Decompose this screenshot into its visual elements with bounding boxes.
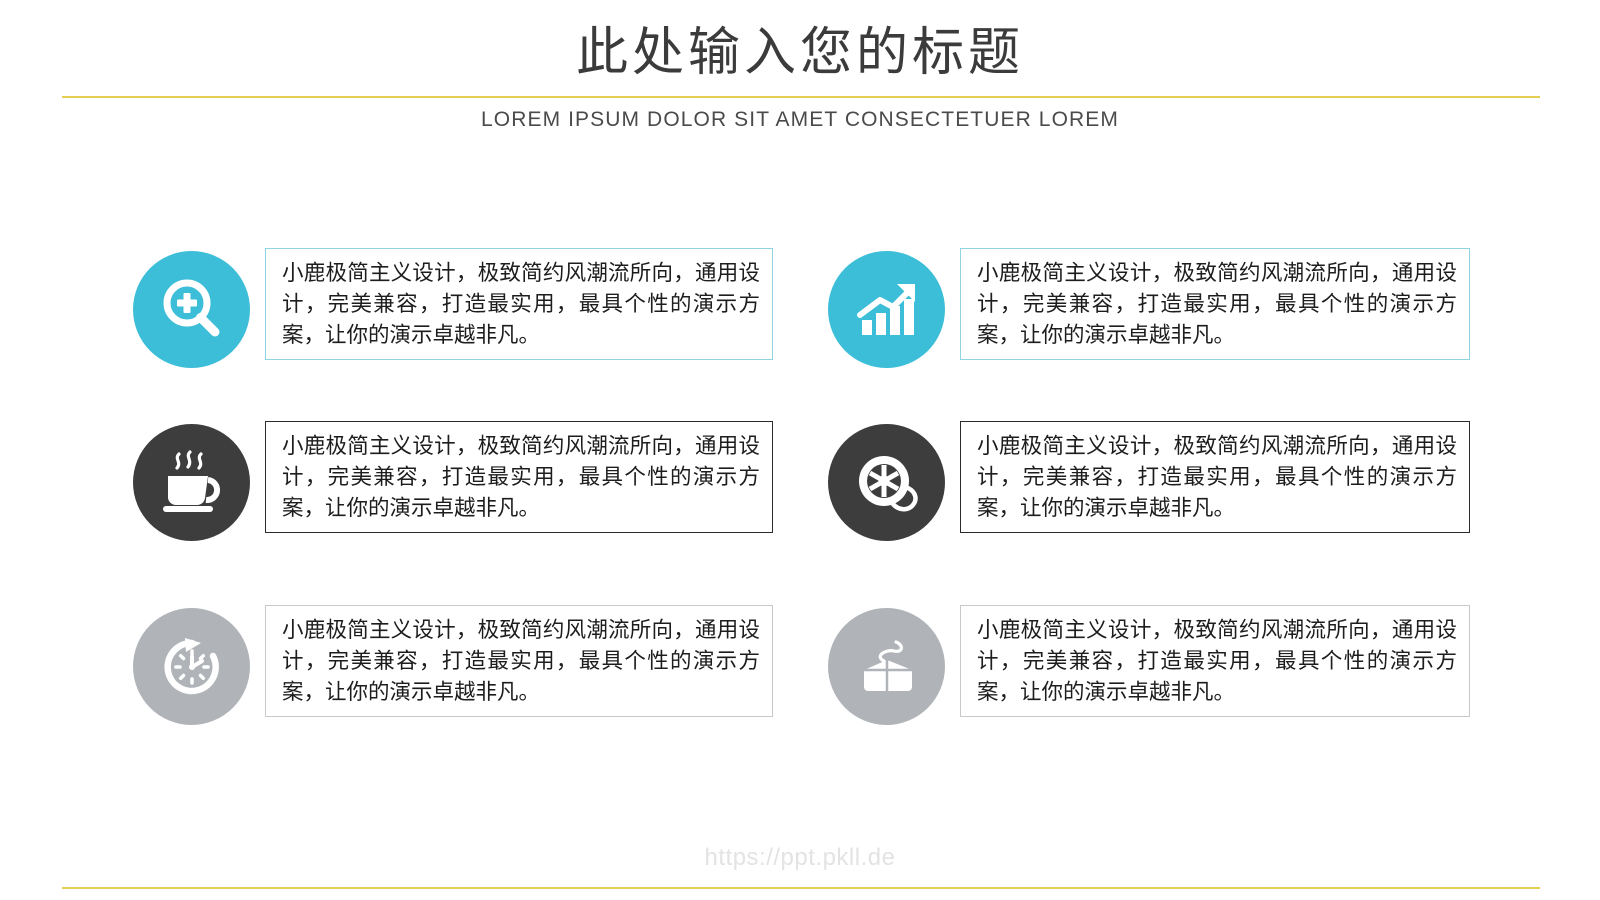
feature-text-1: 小鹿极简主义设计，极致简约风潮流所向，通用设计，完美兼容，打造最实用，最具个性的… [282,258,760,351]
feature-item-5[interactable]: 小鹿极简主义设计，极致简约风潮流所向，通用设计，完美兼容，打造最实用，最具个性的… [133,605,833,729]
footer-url[interactable]: https://ppt.pkll.de [0,844,1600,872]
feature-item-3[interactable]: 小鹿极简主义设计，极致简约风潮流所向，通用设计，完美兼容，打造最实用，最具个性的… [133,421,833,545]
feature-textbox-1[interactable]: 小鹿极简主义设计，极致简约风潮流所向，通用设计，完美兼容，打造最实用，最具个性的… [265,248,773,360]
page-title: 此处输入您的标题 [0,22,1600,84]
coffee-cup-icon [155,446,229,520]
computer-mouse-icon [850,630,924,704]
page-subtitle: LOREM IPSUM DOLOR SIT AMET CONSECTETUER … [0,106,1600,134]
title-divider-rule [62,96,1540,98]
feature-item-6[interactable]: 小鹿极简主义设计，极致简约风潮流所向，通用设计，完美兼容，打造最实用，最具个性的… [828,605,1528,729]
footer-divider-rule [62,887,1540,889]
feature-icon-circle-4[interactable] [828,424,945,541]
feature-icon-circle-2[interactable] [828,251,945,368]
feature-text-2: 小鹿极简主义设计，极致简约风潮流所向，通用设计，完美兼容，打造最实用，最具个性的… [977,258,1457,351]
feature-textbox-2[interactable]: 小鹿极简主义设计，极致简约风潮流所向，通用设计，完美兼容，打造最实用，最具个性的… [960,248,1470,360]
feature-text-6: 小鹿极简主义设计，极致简约风潮流所向，通用设计，完美兼容，打造最实用，最具个性的… [977,615,1457,708]
feature-textbox-3[interactable]: 小鹿极简主义设计，极致简约风潮流所向，通用设计，完美兼容，打造最实用，最具个性的… [265,421,773,533]
items-grid: 小鹿极简主义设计，极致简约风潮流所向，通用设计，完美兼容，打造最实用，最具个性的… [0,248,1600,748]
magnifier-plus-icon [155,273,229,347]
feature-textbox-4[interactable]: 小鹿极简主义设计，极致简约风潮流所向，通用设计，完美兼容，打造最实用，最具个性的… [960,421,1470,533]
feature-icon-circle-3[interactable] [133,424,250,541]
feature-item-2[interactable]: 小鹿极简主义设计，极致简约风潮流所向，通用设计，完美兼容，打造最实用，最具个性的… [828,248,1528,372]
feature-textbox-5[interactable]: 小鹿极简主义设计，极致简约风潮流所向，通用设计，完美兼容，打造最实用，最具个性的… [265,605,773,717]
feature-item-1[interactable]: 小鹿极简主义设计，极致简约风潮流所向，通用设计，完美兼容，打造最实用，最具个性的… [133,248,833,372]
feature-icon-circle-5[interactable] [133,608,250,725]
tire-wheel-icon [850,446,924,520]
slide-header: 此处输入您的标题 LOREM IPSUM DOLOR SIT AMET CONS… [0,0,1600,145]
feature-icon-circle-1[interactable] [133,251,250,368]
feature-item-4[interactable]: 小鹿极简主义设计，极致简约风潮流所向，通用设计，完美兼容，打造最实用，最具个性的… [828,421,1528,545]
feature-text-5: 小鹿极简主义设计，极致简约风潮流所向，通用设计，完美兼容，打造最实用，最具个性的… [282,615,760,708]
feature-textbox-6[interactable]: 小鹿极简主义设计，极致简约风潮流所向，通用设计，完美兼容，打造最实用，最具个性的… [960,605,1470,717]
feature-text-4: 小鹿极简主义设计，极致简约风潮流所向，通用设计，完美兼容，打造最实用，最具个性的… [977,431,1457,524]
slide-footer: https://ppt.pkll.de [0,820,1600,900]
clock-refresh-icon [155,630,229,704]
feature-icon-circle-6[interactable] [828,608,945,725]
growth-chart-icon [850,273,924,347]
feature-text-3: 小鹿极简主义设计，极致简约风潮流所向，通用设计，完美兼容，打造最实用，最具个性的… [282,431,760,524]
